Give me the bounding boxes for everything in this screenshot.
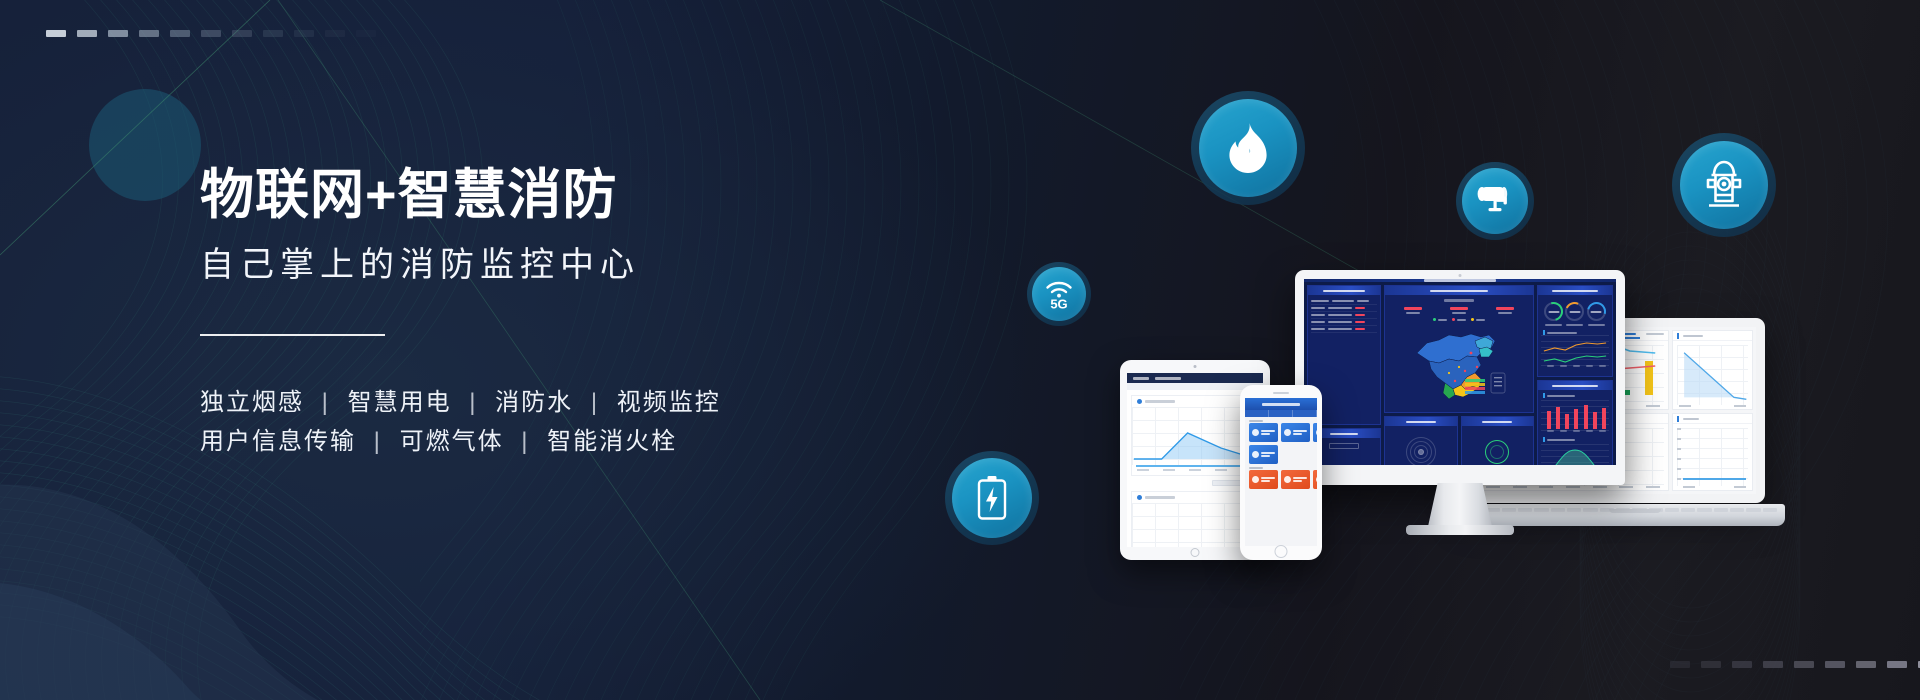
tablet-camera-icon xyxy=(1194,365,1197,368)
monitor-camera-icon xyxy=(1459,274,1462,277)
laptop-descending-line xyxy=(1677,345,1748,405)
phone-header-bar xyxy=(1245,398,1317,410)
fire-hydrant-icon xyxy=(1703,159,1745,211)
radar-rings xyxy=(1406,437,1436,466)
kpi-item xyxy=(1404,307,1422,314)
bars-content xyxy=(1538,390,1612,465)
panel-header xyxy=(1538,286,1612,295)
monitor-stand-foot xyxy=(1406,525,1514,535)
flame-icon xyxy=(1225,123,1271,173)
bar-series xyxy=(1547,405,1606,429)
dash xyxy=(325,30,345,37)
decorative-dash-row-top-left xyxy=(46,30,387,37)
feature-separator: | xyxy=(582,389,608,416)
table-row xyxy=(1311,326,1377,333)
phone-tile[interactable] xyxy=(1249,423,1278,442)
bar-chart-xlabels xyxy=(1547,430,1606,434)
laptop-flat-line xyxy=(1683,478,1746,480)
flame-icon-badge xyxy=(1191,91,1305,205)
banner-root: 物联网+智慧消防 自己掌上的消防监控中心 独立烟感 | 智慧用电 | 消防水 |… xyxy=(0,0,1920,700)
table-row xyxy=(1311,305,1377,312)
phone-tile-grid-orange xyxy=(1245,470,1317,489)
dashboard-body xyxy=(1304,282,1616,465)
phone-tab-bar[interactable] xyxy=(1245,410,1317,417)
line-chart-xlabels xyxy=(1547,365,1606,369)
panel-header xyxy=(1462,417,1534,426)
panel-header xyxy=(1385,286,1533,295)
dashboard-right-column xyxy=(1537,285,1613,465)
tile-icon xyxy=(1252,429,1259,436)
background-blob-shapes xyxy=(0,440,580,700)
green-ring-gauge xyxy=(1485,440,1509,464)
feature-line-1: 独立烟感 | 智慧用电 | 消防水 | 视频监控 xyxy=(200,384,960,423)
feature-item: 独立烟感 xyxy=(200,389,304,416)
gauge-item xyxy=(1587,302,1606,326)
dash xyxy=(170,30,190,37)
dash xyxy=(263,30,283,37)
dashboard-center-column xyxy=(1384,285,1534,465)
feature-separator: | xyxy=(512,428,538,455)
kpi-item xyxy=(1450,307,1468,314)
phone-tile[interactable] xyxy=(1313,423,1317,442)
device-mockup-group xyxy=(1120,280,1800,570)
laptop-card-header xyxy=(1673,331,1752,341)
feature-item: 智慧用电 xyxy=(348,389,452,416)
dash xyxy=(77,30,97,37)
gauge-green xyxy=(1544,302,1563,321)
dash xyxy=(1887,661,1907,668)
kpi-item xyxy=(1496,307,1514,314)
map-subtitle xyxy=(1444,299,1474,302)
decorative-dash-row-bottom-right xyxy=(1670,661,1920,668)
feature-item: 智能消火栓 xyxy=(547,428,677,455)
dash xyxy=(1825,661,1845,668)
5g-signal-icon-badge: 5G xyxy=(1027,262,1091,326)
gauge-orange xyxy=(1565,302,1584,321)
china-map-shape xyxy=(1409,323,1509,409)
ring-visual xyxy=(1462,426,1534,465)
table-row xyxy=(1311,319,1377,326)
tile-icon xyxy=(1252,451,1259,458)
map-legend xyxy=(1388,316,1530,323)
panel-header xyxy=(1538,381,1612,390)
monitor-stand-neck xyxy=(1427,483,1493,531)
laptop-flat-xlabels xyxy=(1683,486,1746,488)
bar-chart-caption xyxy=(1541,393,1609,400)
line-chart-caption xyxy=(1541,328,1609,335)
gauge-blue xyxy=(1587,302,1606,321)
cctv-camera-icon xyxy=(1475,184,1515,218)
tile-icon xyxy=(1316,476,1317,483)
battery-bolt-icon-badge xyxy=(945,451,1039,545)
panel-header xyxy=(1308,286,1380,295)
fire-hydrant-icon-badge xyxy=(1672,133,1776,237)
phone-tile-grid-blue xyxy=(1245,423,1317,464)
feature-list: 独立烟感 | 智慧用电 | 消防水 | 视频监控 用户信息传输 | 可燃气体 |… xyxy=(200,384,960,462)
dash xyxy=(1701,661,1721,668)
laptop-card-header xyxy=(1673,414,1752,424)
feature-separator: | xyxy=(460,389,486,416)
page-subtitle: 自己掌上的消防监控中心 xyxy=(200,248,960,282)
gauge-item xyxy=(1544,302,1563,326)
monitor-bezel xyxy=(1295,270,1625,485)
tile-icon xyxy=(1284,429,1291,436)
legend-item xyxy=(1471,318,1485,321)
feature-item: 可燃气体 xyxy=(400,428,504,455)
gauge-row xyxy=(1541,298,1609,328)
laptop-line-chart-card xyxy=(1672,330,1753,410)
5g-signal-icon: 5G xyxy=(1042,277,1076,311)
feature-item: 视频监控 xyxy=(617,389,721,416)
gauges-content xyxy=(1538,295,1612,376)
battery-bolt-icon xyxy=(975,475,1009,521)
kpi-row xyxy=(1388,304,1530,316)
legend-item xyxy=(1433,318,1447,321)
table-row xyxy=(1311,312,1377,319)
feature-line-2: 用户信息传输 | 可燃气体 | 智能消火栓 xyxy=(200,423,960,462)
dash xyxy=(139,30,159,37)
dash xyxy=(1794,661,1814,668)
phone-screen xyxy=(1245,398,1317,546)
radar-visual xyxy=(1385,426,1457,465)
dashboard-map-panel xyxy=(1384,285,1534,413)
dashboard-ring-panel xyxy=(1461,416,1535,465)
dashboard-line-chart xyxy=(1541,335,1609,369)
legend-item xyxy=(1452,318,1466,321)
cctv-camera-icon-badge xyxy=(1456,162,1534,240)
monitor-screen xyxy=(1304,279,1616,465)
panel-header xyxy=(1385,417,1457,426)
phone-mockup xyxy=(1240,385,1322,560)
dashboard-gauge-row xyxy=(1384,416,1534,465)
page-title: 物联网+智慧消防 xyxy=(200,168,960,222)
laptop-descending-chart xyxy=(1673,341,1752,409)
dash xyxy=(1670,661,1690,668)
dash xyxy=(1763,661,1783,668)
tile-icon xyxy=(1252,476,1259,483)
dashboard-area-chart xyxy=(1541,444,1609,465)
china-map xyxy=(1388,323,1530,409)
divider-rule xyxy=(200,334,385,336)
gauge-item xyxy=(1565,302,1584,326)
dashboard-bars-panel xyxy=(1537,380,1613,465)
phone-home-button[interactable] xyxy=(1275,545,1288,558)
phone-speaker xyxy=(1273,392,1289,394)
laptop-flat-chart-card xyxy=(1672,413,1753,491)
panel-button[interactable] xyxy=(1329,443,1359,449)
phone-tile[interactable] xyxy=(1313,470,1317,489)
feature-separator: | xyxy=(313,389,339,416)
dash xyxy=(108,30,128,37)
dash xyxy=(232,30,252,37)
dash xyxy=(201,30,221,37)
dashboard-bar-chart xyxy=(1541,400,1609,434)
map-panel-content xyxy=(1385,295,1533,412)
phone-tile[interactable] xyxy=(1249,470,1278,489)
phone-tile[interactable] xyxy=(1249,445,1278,464)
dash xyxy=(356,30,376,37)
tile-icon xyxy=(1284,476,1291,483)
laptop-flat-ylabels xyxy=(1677,428,1681,480)
dash xyxy=(1856,661,1876,668)
laptop-flat-chart xyxy=(1673,424,1752,490)
feature-item: 用户信息传输 xyxy=(200,428,356,455)
phone-tile[interactable] xyxy=(1281,470,1310,489)
laptop-line-xlabels xyxy=(1679,405,1746,407)
tablet-home-button xyxy=(1191,548,1200,557)
dash xyxy=(46,30,66,37)
feature-item: 消防水 xyxy=(495,389,573,416)
feature-separator: | xyxy=(365,428,391,455)
phone-tile[interactable] xyxy=(1281,423,1310,442)
monitor-mockup xyxy=(1295,270,1625,560)
dash xyxy=(1732,661,1752,668)
5g-label: 5G xyxy=(1050,297,1067,312)
tile-icon xyxy=(1316,429,1317,436)
dash xyxy=(294,30,314,37)
tablet-header-bar xyxy=(1127,373,1263,383)
table-header-row xyxy=(1311,298,1377,305)
area-chart-caption xyxy=(1541,434,1609,444)
dashboard-radar-panel xyxy=(1384,416,1458,465)
hero-copy: 物联网+智慧消防 自己掌上的消防监控中心 独立烟感 | 智慧用电 | 消防水 |… xyxy=(200,168,960,462)
dashboard-gauges-panel xyxy=(1537,285,1613,377)
